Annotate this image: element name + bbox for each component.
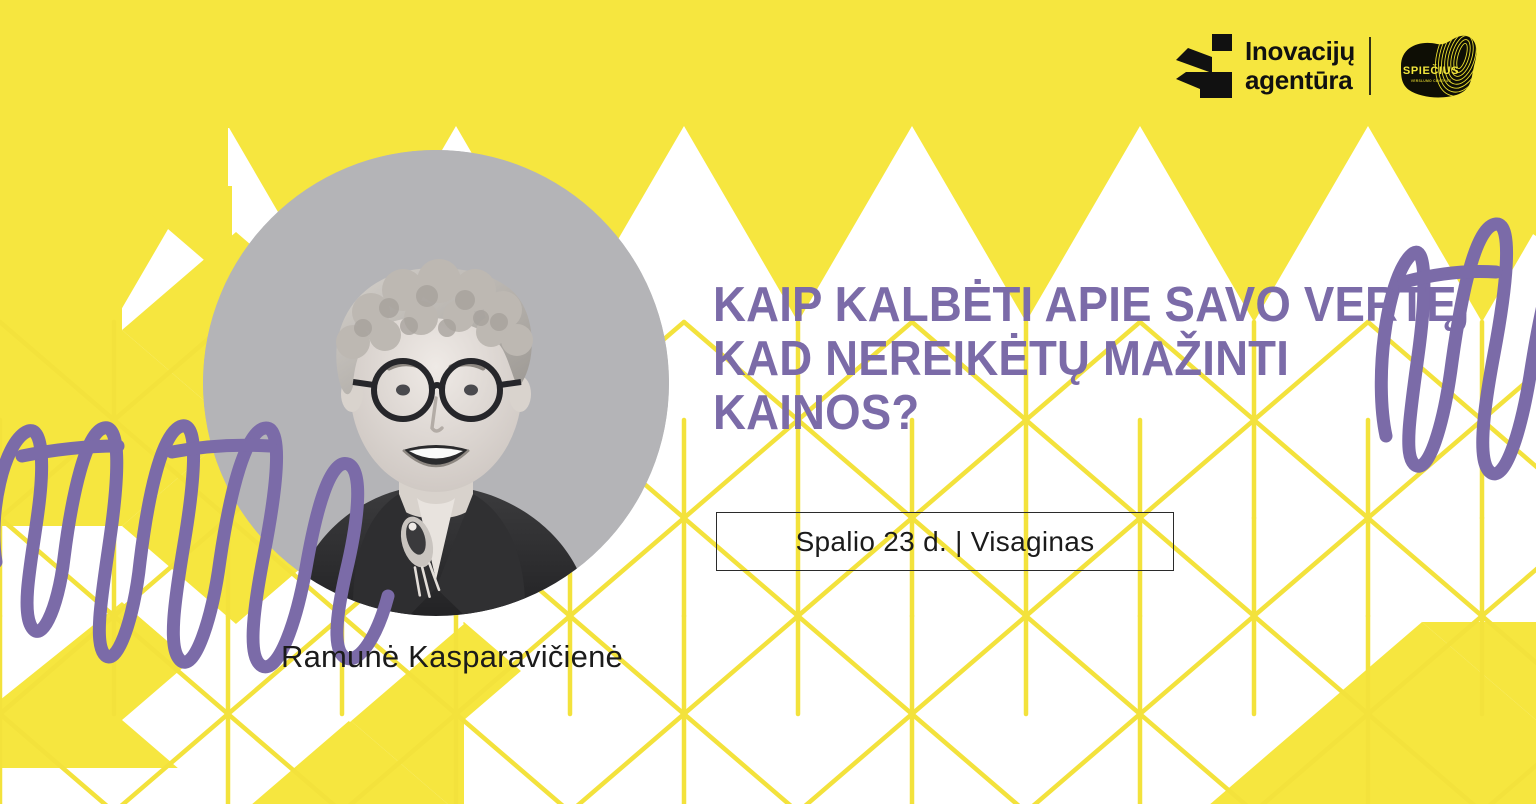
- logo-divider: [1369, 37, 1371, 95]
- inovaciju-agentura-logo: Inovacijų agentūra: [1176, 34, 1355, 98]
- speaker-name: Ramunė Kasparavičienė: [281, 639, 623, 675]
- page-title: KAIP KALBĖTI APIE SAVO VERTĘ, KAD NEREIK…: [713, 278, 1355, 440]
- logo-cluster: Inovacijų agentūra: [1176, 30, 1481, 102]
- event-poster: Inovacijų agentūra: [0, 0, 1536, 804]
- spiecius-subtitle: VERSLUMO CENTRAS: [1411, 79, 1452, 83]
- headline-line-2: KAD NEREIKĖTŲ MAŽINTI: [713, 332, 1355, 386]
- headline-line-3: KAINOS?: [713, 386, 1355, 440]
- inovaciju-agentura-wordmark: Inovacijų agentūra: [1245, 37, 1355, 95]
- date-location-text: Spalio 23 d. | Visaginas: [796, 526, 1095, 558]
- logo-line-1: Inovacijų: [1245, 37, 1355, 66]
- date-location-badge: Spalio 23 d. | Visaginas: [716, 512, 1174, 571]
- headline-line-1: KAIP KALBĖTI APIE SAVO VERTĘ,: [713, 278, 1355, 332]
- speaker-portrait: [203, 150, 669, 616]
- inovaciju-agentura-mark: [1176, 34, 1234, 98]
- logo-line-2: agentūra: [1245, 66, 1355, 95]
- spiecius-logo: SPIEČIUS VERSLUMO CENTRAS: [1385, 30, 1481, 102]
- spiecius-wordmark: SPIEČIUS: [1403, 64, 1459, 77]
